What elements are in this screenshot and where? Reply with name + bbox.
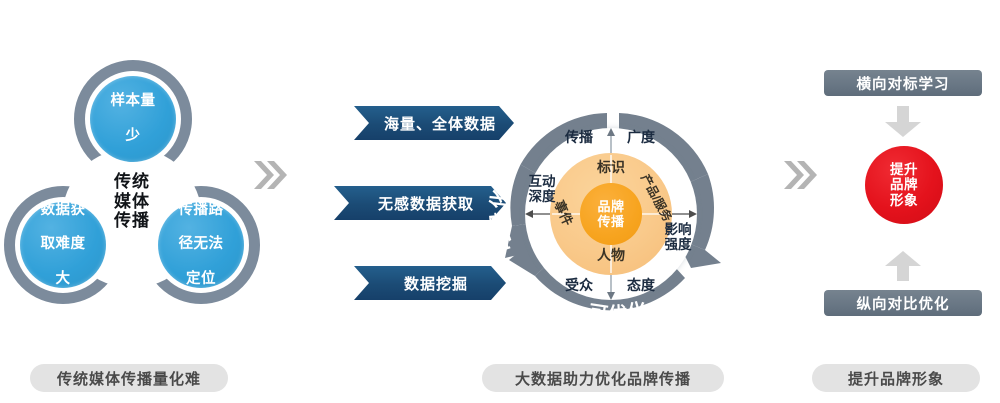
label-line: 强度	[665, 237, 692, 252]
tag-horizontal-benchmarking[interactable]: 横向对标学习	[824, 70, 982, 96]
spinner-node-sample-size[interactable]: 样本量 少	[90, 76, 176, 162]
flow-arrow-label: 无感数据获取	[378, 193, 474, 214]
label-line: 互动	[529, 174, 556, 189]
wheel-core-brand-communication: 品牌 传播	[580, 183, 642, 245]
flow-arrow-label: 数据挖掘	[404, 273, 468, 294]
result-disc-brand-image[interactable]: 提升 品牌 形象	[865, 146, 943, 224]
chevron-double-right-icon	[782, 158, 818, 192]
node-line: 传播路	[175, 202, 228, 219]
spinner-hub-label: 传统 媒体 传播	[86, 172, 178, 231]
wheel-white-label-breadth: 广度	[619, 130, 663, 145]
tag-label: 纵向对比优化	[857, 293, 950, 314]
hub-line: 传播	[114, 211, 150, 230]
stage-separator-2	[782, 158, 818, 192]
brand-communication-wheel: 可量化 可跟踪 可优化	[495, 98, 727, 330]
node-line: 取难度	[37, 236, 90, 253]
wheel-orange-label-people: 人物	[583, 248, 639, 263]
flow-arrow-label: 海量、全体数据	[384, 113, 496, 134]
node-line: 样本量	[107, 93, 160, 110]
brand-image-outcome: 横向对标学习 提升 品牌 形象 纵向对比优化	[818, 62, 990, 324]
caption-right: 提升品牌形象	[812, 364, 980, 392]
arrow-down-icon	[884, 106, 922, 138]
wheel-white-label-interaction-depth: 互动 深度	[519, 174, 565, 204]
result-line: 提升	[890, 162, 918, 178]
node-line: 径无法	[175, 236, 228, 253]
hub-line: 传统	[114, 172, 150, 191]
flow-arrow-mass-data[interactable]: 海量、全体数据	[354, 106, 514, 140]
node-line: 数据获	[37, 202, 90, 219]
wheel-white-label-attitude: 态度	[619, 278, 663, 293]
flow-arrow-data-mining[interactable]: 数据挖掘	[354, 266, 506, 300]
caption-left: 传统媒体传播量化难	[30, 364, 228, 392]
chevron-double-right-icon	[252, 158, 288, 192]
arrow-up-icon	[884, 250, 922, 282]
tag-vertical-optimization[interactable]: 纵向对比优化	[824, 290, 982, 316]
infographic-canvas: 样本量 少 数据获 取难度 大 传播路 径无法 定位 传统 媒体 传播	[0, 0, 1000, 403]
hub-line: 媒体	[114, 192, 150, 211]
node-line: 大	[37, 271, 90, 288]
node-line: 少	[107, 128, 160, 145]
caption-text: 大数据助力优化品牌传播	[515, 368, 691, 389]
core-line: 品牌	[597, 199, 624, 214]
stage-separator-1	[252, 158, 288, 192]
result-line: 品牌	[890, 177, 918, 193]
label-line: 影响	[665, 222, 692, 237]
wheel-white-label-influence-strength: 影响 强度	[655, 222, 701, 252]
traditional-media-spinner: 样本量 少 数据获 取难度 大 传播路 径无法 定位 传统 媒体 传播	[0, 60, 265, 325]
caption-text: 传统媒体传播量化难	[57, 368, 201, 389]
wheel-white-label-audience: 受众	[557, 278, 601, 293]
wheel-orange-label-identity: 标识	[583, 160, 639, 175]
node-line: 定位	[175, 271, 228, 288]
core-line: 传播	[597, 214, 624, 229]
caption-text: 提升品牌形象	[848, 368, 944, 389]
result-line: 形象	[890, 193, 918, 209]
caption-middle: 大数据助力优化品牌传播	[482, 364, 724, 392]
wheel-white-label-spread: 传播	[557, 130, 601, 145]
tag-label: 横向对标学习	[857, 73, 950, 94]
label-line: 深度	[529, 189, 556, 204]
flow-arrow-passive-collection[interactable]: 无感数据获取	[334, 186, 506, 220]
